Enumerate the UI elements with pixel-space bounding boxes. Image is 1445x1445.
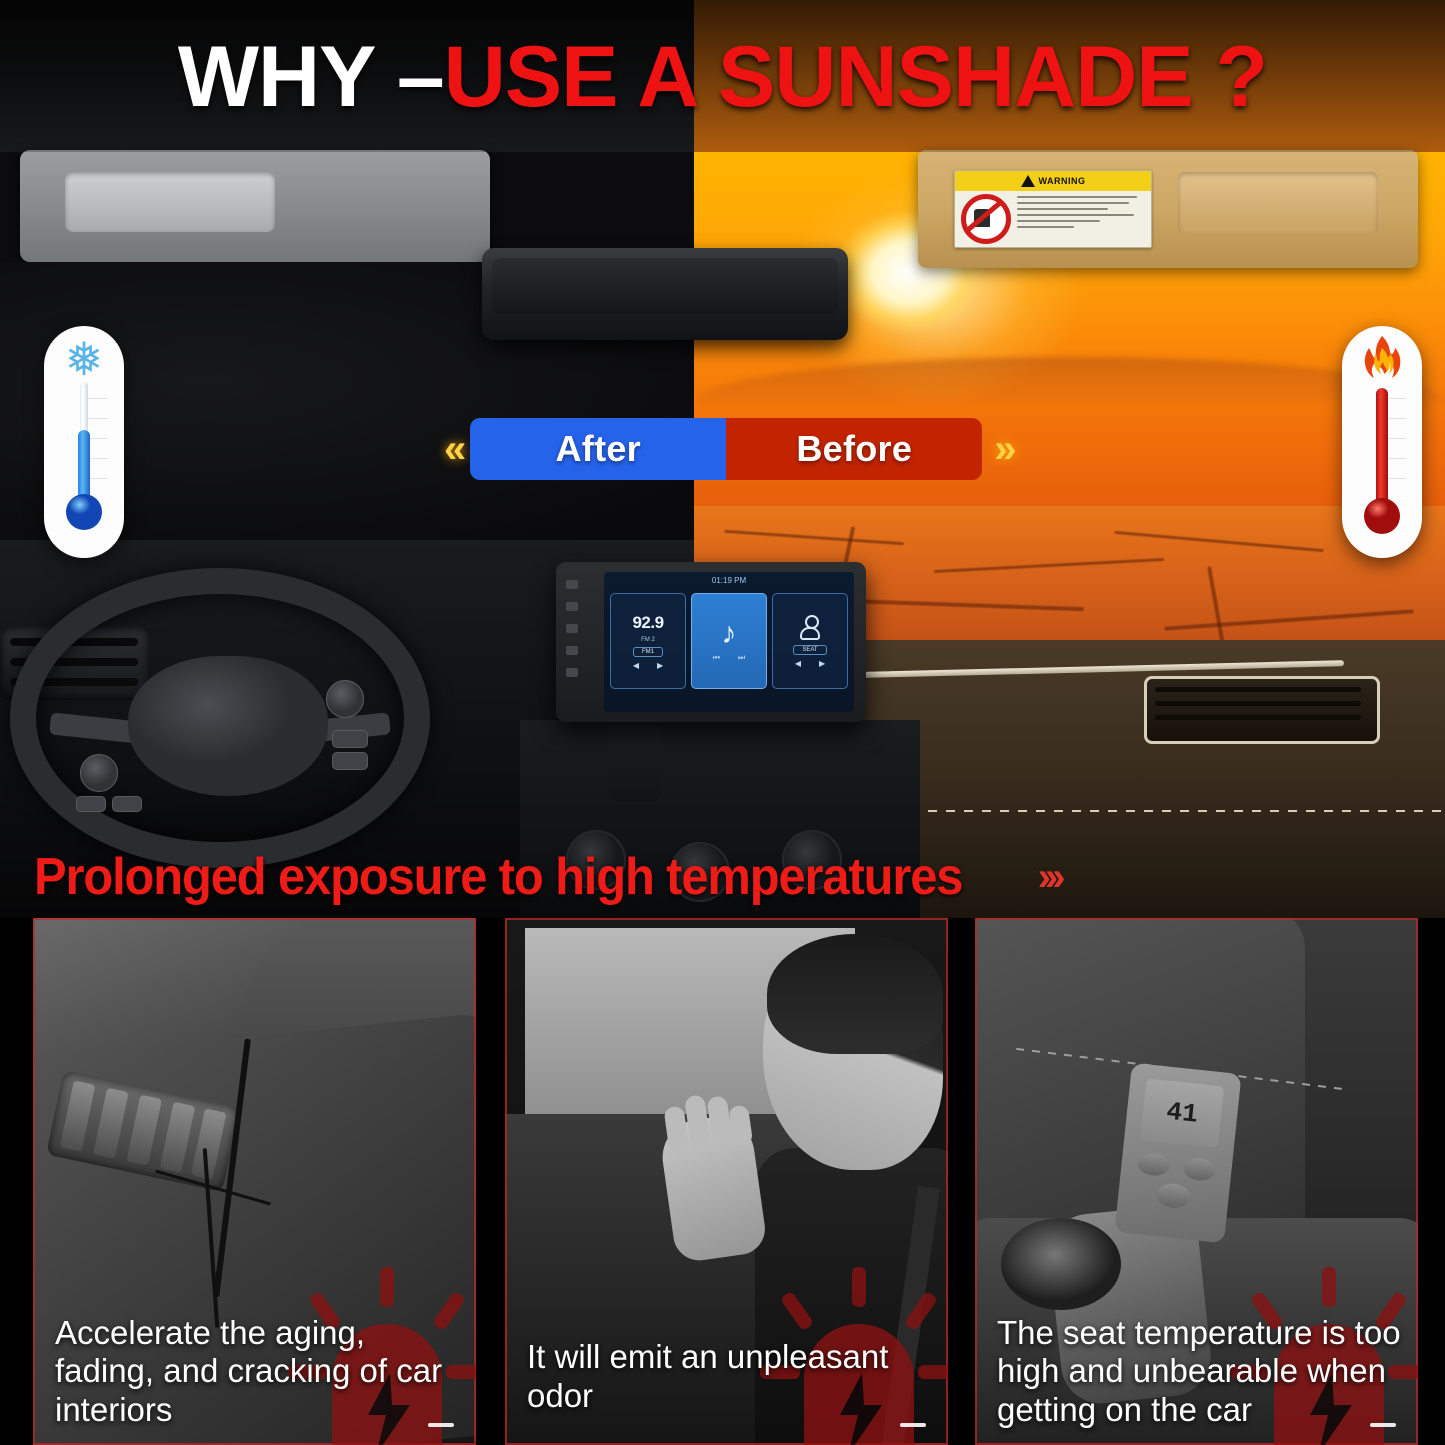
panel-marker [900, 1423, 926, 1427]
chevron-left-icon: « [432, 427, 470, 472]
headline-text: Prolonged exposure to high temperatures [34, 847, 962, 907]
after-badge[interactable]: After [470, 418, 726, 480]
radio-preset-chip[interactable]: FM1 [633, 647, 663, 657]
steering-button-menu[interactable] [332, 730, 368, 748]
hot-thermometer [1342, 326, 1422, 558]
cold-thermometer-bulb [66, 494, 102, 530]
person-icon [800, 615, 820, 641]
panel-marker [428, 1423, 454, 1427]
panel-marker [1370, 1423, 1396, 1427]
head-unit-side-buttons[interactable] [566, 580, 578, 677]
panel-hot-seat: 41 [975, 918, 1418, 1445]
hot-thermometer-mercury [1376, 388, 1388, 516]
ir-thermometer-device: 41 [1114, 1063, 1241, 1244]
airbag-warning-label: WARNING [954, 170, 1152, 248]
panel-aging-interior: Accelerate the aging, fading, and cracki… [33, 918, 476, 1445]
warning-heading: WARNING [1039, 176, 1086, 186]
radio-card[interactable]: 92.9 FM 2 FM1 ◀▶ [610, 593, 686, 689]
snowflake-icon: ❅ [60, 336, 108, 384]
head-unit-clock: 01:19 PM [712, 576, 746, 585]
media-nav-arrows[interactable]: ⏮⏭ [713, 653, 745, 663]
radio-band: FM 2 [641, 637, 655, 643]
seat-card[interactable]: SEAT ◀▶ [772, 593, 848, 689]
ir-thermometer-reading: 41 [1165, 1097, 1199, 1130]
steering-wheel [10, 568, 430, 868]
seat-nav-arrows[interactable]: ◀▶ [795, 659, 825, 668]
panel-caption: It will emit an unpleasant odor [527, 1338, 932, 1415]
radio-frequency: 92.9 [632, 613, 663, 633]
media-card[interactable]: ♪ ⏮⏭ [691, 593, 767, 689]
consequence-panels: Accelerate the aging, fading, and cracki… [0, 918, 1445, 1445]
seat-chip[interactable]: SEAT [793, 645, 826, 655]
ir-button-left[interactable] [1137, 1152, 1171, 1177]
cold-thermometer: ❅ [44, 326, 124, 558]
flame-icon [1360, 334, 1404, 384]
rearview-mirror [482, 248, 848, 340]
warning-bar: WARNING [955, 171, 1151, 191]
ir-button-right[interactable] [1182, 1157, 1216, 1182]
warning-text-lines [1017, 191, 1151, 247]
hero-comparison: WARNING [0, 0, 1445, 918]
head-unit-mount [608, 718, 662, 802]
warning-triangle-icon [1021, 175, 1035, 187]
panel-unpleasant-odor: It will emit an unpleasant odor [505, 918, 948, 1445]
sun-visor-left [20, 150, 490, 262]
steering-dpad-left[interactable] [80, 754, 118, 792]
before-after-badges: « After Before » [432, 418, 1021, 480]
panel-caption: The seat temperature is too high and unb… [997, 1314, 1402, 1429]
no-child-seat-icon [955, 191, 1017, 247]
ir-button-mode[interactable] [1155, 1182, 1191, 1209]
infotainment-head-unit: 01:19 PM 92.9 FM 2 FM1 ◀▶ ♪ ⏮⏭ [556, 562, 866, 722]
visor-mirror-left [65, 172, 275, 232]
radio-nav-arrows[interactable]: ◀▶ [633, 661, 663, 670]
steering-button-phone[interactable] [332, 752, 368, 770]
mirror-glass [492, 258, 838, 314]
panel-caption: Accelerate the aging, fading, and cracki… [55, 1314, 460, 1429]
ir-thermometer-display: 41 [1140, 1078, 1224, 1148]
steering-button-vol-down[interactable] [76, 796, 106, 812]
steering-airbag-hub [128, 656, 328, 796]
before-badge[interactable]: Before [726, 418, 982, 480]
title-red-part: USE A SUNSHADE ? [444, 34, 1267, 120]
steering-button-vol-up[interactable] [112, 796, 142, 812]
page-title: WHY – USE A SUNSHADE ? [0, 22, 1445, 132]
infographic-root: WARNING [0, 0, 1445, 1445]
hot-thermometer-bulb [1364, 498, 1400, 534]
headline-chevrons-icon: ››› [1038, 855, 1060, 900]
music-note-icon: ♪ [722, 619, 737, 649]
chevron-right-icon: » [982, 427, 1020, 472]
sun-visor-right: WARNING [918, 150, 1418, 268]
cold-thermometer-stem [80, 382, 88, 434]
steering-dpad-right[interactable] [326, 680, 364, 718]
visor-mirror-right [1178, 172, 1378, 234]
headline-band: Prolonged exposure to high temperatures … [0, 836, 1445, 918]
air-vent-right [1144, 676, 1380, 744]
infotainment-screen[interactable]: 01:19 PM 92.9 FM 2 FM1 ◀▶ ♪ ⏮⏭ [604, 572, 854, 712]
title-white-part: WHY – [178, 34, 444, 120]
